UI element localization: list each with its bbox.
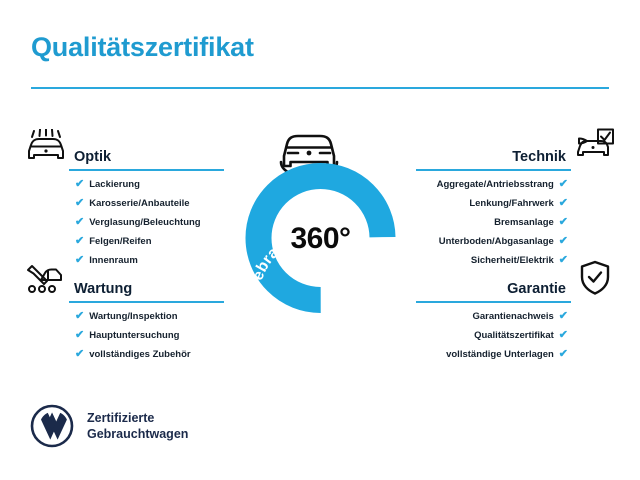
certificate-page: Qualitätszertifikat <box>0 0 640 480</box>
section-garantie-title: Garantie <box>507 282 574 299</box>
list-item: ✔ Verglasung/Beleuchtung <box>75 217 224 228</box>
brand-footer: Zertifizierte Gebrauchtwagen <box>30 404 188 448</box>
list-item: ✔ Hauptuntersuchung <box>75 330 224 341</box>
section-technik-list: Aggregate/Antriebsstrang ✔ Lenkung/Fahrw… <box>416 179 616 266</box>
list-item: ✔ Lackierung <box>75 179 224 190</box>
section-wartung-divider <box>69 301 224 303</box>
list-item-label: vollständiges Zubehör <box>89 350 190 360</box>
list-item-label: Lenkung/Fahrwerk <box>469 199 553 209</box>
shield-check-icon <box>574 258 616 298</box>
badge-center-label: 360° <box>228 224 413 254</box>
list-item: ✔ Karosserie/Anbauteile <box>75 198 224 209</box>
brand-text: Zertifizierte Gebrauchtwagen <box>87 410 188 443</box>
list-item: Lenkung/Fahrwerk ✔ <box>416 198 616 209</box>
check-icon: ✔ <box>75 179 84 190</box>
section-optik-divider <box>69 169 224 171</box>
section-optik-list: ✔ Lackierung ✔ Karosserie/Anbauteile ✔ V… <box>24 179 224 266</box>
section-garantie-divider <box>416 301 571 303</box>
list-item-label: Aggregate/Antriebsstrang <box>437 180 554 190</box>
page-title: Qualitätszertifikat <box>31 32 254 63</box>
section-garantie: Garantie Garantienachweis ✔ Qualitätszer… <box>416 258 616 368</box>
list-item-label: Lackierung <box>89 180 140 190</box>
section-wartung: Wartung ✔ Wartung/Inspektion ✔ Hauptunte… <box>24 258 224 368</box>
list-item-label: Bremsanlage <box>494 218 554 228</box>
check-icon: ✔ <box>559 311 568 322</box>
list-item: ✔ Wartung/Inspektion <box>75 311 224 322</box>
check-icon: ✔ <box>559 330 568 341</box>
list-item-label: Qualitätszertifikat <box>474 331 554 341</box>
list-item-label: Hauptuntersuchung <box>89 331 179 341</box>
section-wartung-list: ✔ Wartung/Inspektion ✔ Hauptuntersuchung… <box>24 311 224 360</box>
list-item: ✔ Felgen/Reifen <box>75 236 224 247</box>
check-icon: ✔ <box>75 217 84 228</box>
list-item: Qualitätszertifikat ✔ <box>416 330 616 341</box>
list-item-label: Garantienachweis <box>472 312 553 322</box>
section-garantie-list: Garantienachweis ✔ Qualitätszertifikat ✔… <box>416 311 616 360</box>
brand-line-1: Zertifizierte <box>87 410 188 426</box>
check-icon: ✔ <box>559 179 568 190</box>
check-icon: ✔ <box>559 349 568 360</box>
list-item: ✔ vollständiges Zubehör <box>75 349 224 360</box>
check-icon: ✔ <box>559 217 568 228</box>
list-item: Garantienachweis ✔ <box>416 311 616 322</box>
list-item-label: vollständige Unterlagen <box>446 350 554 360</box>
list-item-label: Verglasung/Beleuchtung <box>89 218 200 228</box>
list-item-label: Karosserie/Anbauteile <box>89 199 189 209</box>
section-wartung-title: Wartung <box>66 282 132 299</box>
list-item-label: Felgen/Reifen <box>89 237 151 247</box>
list-item-label: Unterboden/Abgasanlage <box>439 237 554 247</box>
brand-line-2: Gebrauchtwagen <box>87 426 188 442</box>
list-item: Aggregate/Antriebsstrang ✔ <box>416 179 616 190</box>
check-icon: ✔ <box>75 311 84 322</box>
check-icon: ✔ <box>559 236 568 247</box>
check-icon: ✔ <box>75 349 84 360</box>
list-item-label: Wartung/Inspektion <box>89 312 177 322</box>
list-item: Unterboden/Abgasanlage ✔ <box>416 236 616 247</box>
section-garantie-header: Garantie <box>416 258 616 298</box>
car-shine-icon <box>24 126 66 166</box>
section-technik: Technik Aggregate/Antriebsstrang ✔ <box>416 126 616 274</box>
section-technik-header: Technik <box>416 126 616 166</box>
title-divider <box>31 87 609 89</box>
section-wartung-header: Wartung <box>24 258 224 298</box>
check-icon: ✔ <box>559 198 568 209</box>
list-item: vollständige Unterlagen ✔ <box>416 349 616 360</box>
section-optik: Optik ✔ Lackierung ✔ Karosserie/Anbautei… <box>24 126 224 274</box>
section-optik-title: Optik <box>66 150 111 167</box>
check-icon: ✔ <box>75 330 84 341</box>
badge-360-gebrauchtwagen-check: Gebrauchtwagen-Check 360° <box>228 116 413 316</box>
car-service-wrench-icon <box>24 258 66 298</box>
section-technik-divider <box>416 169 571 171</box>
vw-logo-icon <box>30 404 74 448</box>
section-optik-header: Optik <box>24 126 224 166</box>
section-technik-title: Technik <box>512 150 574 167</box>
check-icon: ✔ <box>75 236 84 247</box>
check-icon: ✔ <box>75 198 84 209</box>
car-hood-check-icon <box>574 126 616 166</box>
list-item: Bremsanlage ✔ <box>416 217 616 228</box>
